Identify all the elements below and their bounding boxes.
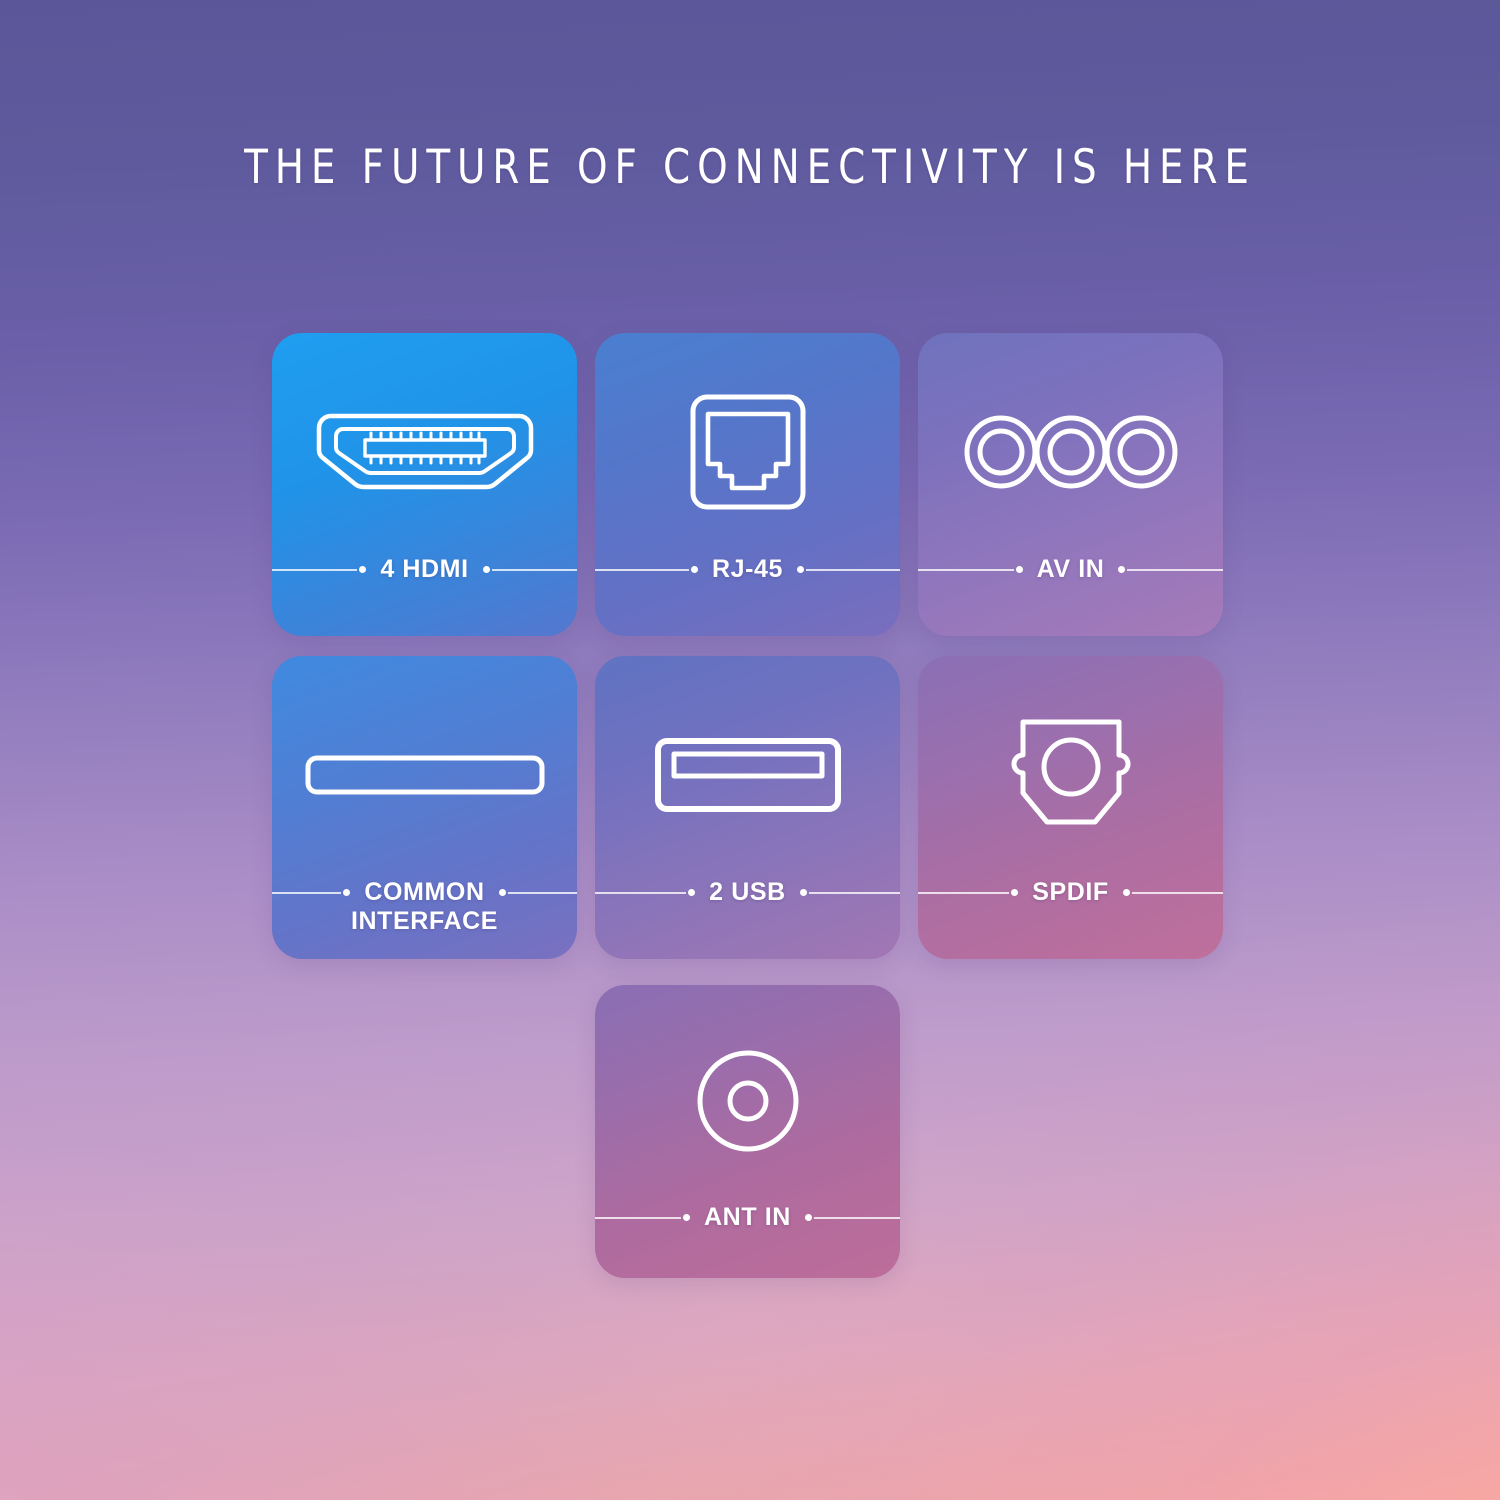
label-dot-right bbox=[483, 566, 490, 573]
card-hdmi[interactable]: 4 HDMI bbox=[272, 333, 577, 636]
ci-card-slot-icon bbox=[272, 656, 577, 893]
label-dot-right bbox=[805, 1214, 812, 1221]
card-label-text: COMMON bbox=[350, 878, 498, 906]
label-dot-right bbox=[499, 889, 506, 896]
card-label-text: RJ-45 bbox=[698, 555, 797, 583]
card-av-in[interactable]: AV IN bbox=[918, 333, 1223, 636]
label-dot-right bbox=[1123, 889, 1130, 896]
spdif-optical-port-icon bbox=[918, 656, 1223, 893]
label-dot-right bbox=[800, 889, 807, 896]
card-label-rj45: RJ-45 bbox=[595, 555, 900, 635]
usb-type-a-port-icon bbox=[595, 656, 900, 893]
card-label-text: 2 USB bbox=[695, 878, 800, 906]
card-label-ant-in: ANT IN bbox=[595, 1203, 900, 1278]
label-dot-left bbox=[1011, 889, 1018, 896]
card-label-text: AV IN bbox=[1023, 555, 1119, 583]
connectivity-card-grid: 4 HDMI RJ-45 bbox=[272, 333, 1228, 1278]
card-label-text: SPDIF bbox=[1018, 878, 1123, 906]
card-label-text-line2: INTERFACE bbox=[351, 906, 498, 936]
page-title: THE FUTURE OF CONNECTIVITY IS HERE bbox=[60, 141, 1440, 195]
card-label-av-in: AV IN bbox=[918, 555, 1223, 635]
label-dot-left bbox=[343, 889, 350, 896]
label-dot-right bbox=[1118, 566, 1125, 573]
card-label-common-interface: COMMON INTERFACE bbox=[272, 878, 577, 958]
card-label-usb: 2 USB bbox=[595, 878, 900, 958]
card-spdif[interactable]: SPDIF bbox=[918, 656, 1223, 959]
connectivity-infographic: THE FUTURE OF CONNECTIVITY IS HERE bbox=[0, 0, 1500, 1500]
label-dot-left bbox=[683, 1214, 690, 1221]
label-dot-left bbox=[1016, 566, 1023, 573]
card-ant-in[interactable]: ANT IN bbox=[595, 985, 900, 1278]
card-label-text: 4 HDMI bbox=[366, 555, 482, 583]
label-dot-left bbox=[359, 566, 366, 573]
card-usb[interactable]: 2 USB bbox=[595, 656, 900, 959]
hdmi-port-icon bbox=[272, 333, 577, 570]
rca-av-jacks-icon bbox=[918, 333, 1223, 570]
card-label-spdif: SPDIF bbox=[918, 878, 1223, 958]
label-dot-left bbox=[688, 889, 695, 896]
rj45-ethernet-jack-icon bbox=[595, 333, 900, 570]
card-rj45[interactable]: RJ-45 bbox=[595, 333, 900, 636]
card-common-interface[interactable]: COMMON INTERFACE bbox=[272, 656, 577, 959]
label-dot-left bbox=[691, 566, 698, 573]
card-label-hdmi: 4 HDMI bbox=[272, 555, 577, 635]
coaxial-antenna-jack-icon bbox=[595, 985, 900, 1217]
card-label-text: ANT IN bbox=[690, 1203, 805, 1231]
label-dot-right bbox=[797, 566, 804, 573]
